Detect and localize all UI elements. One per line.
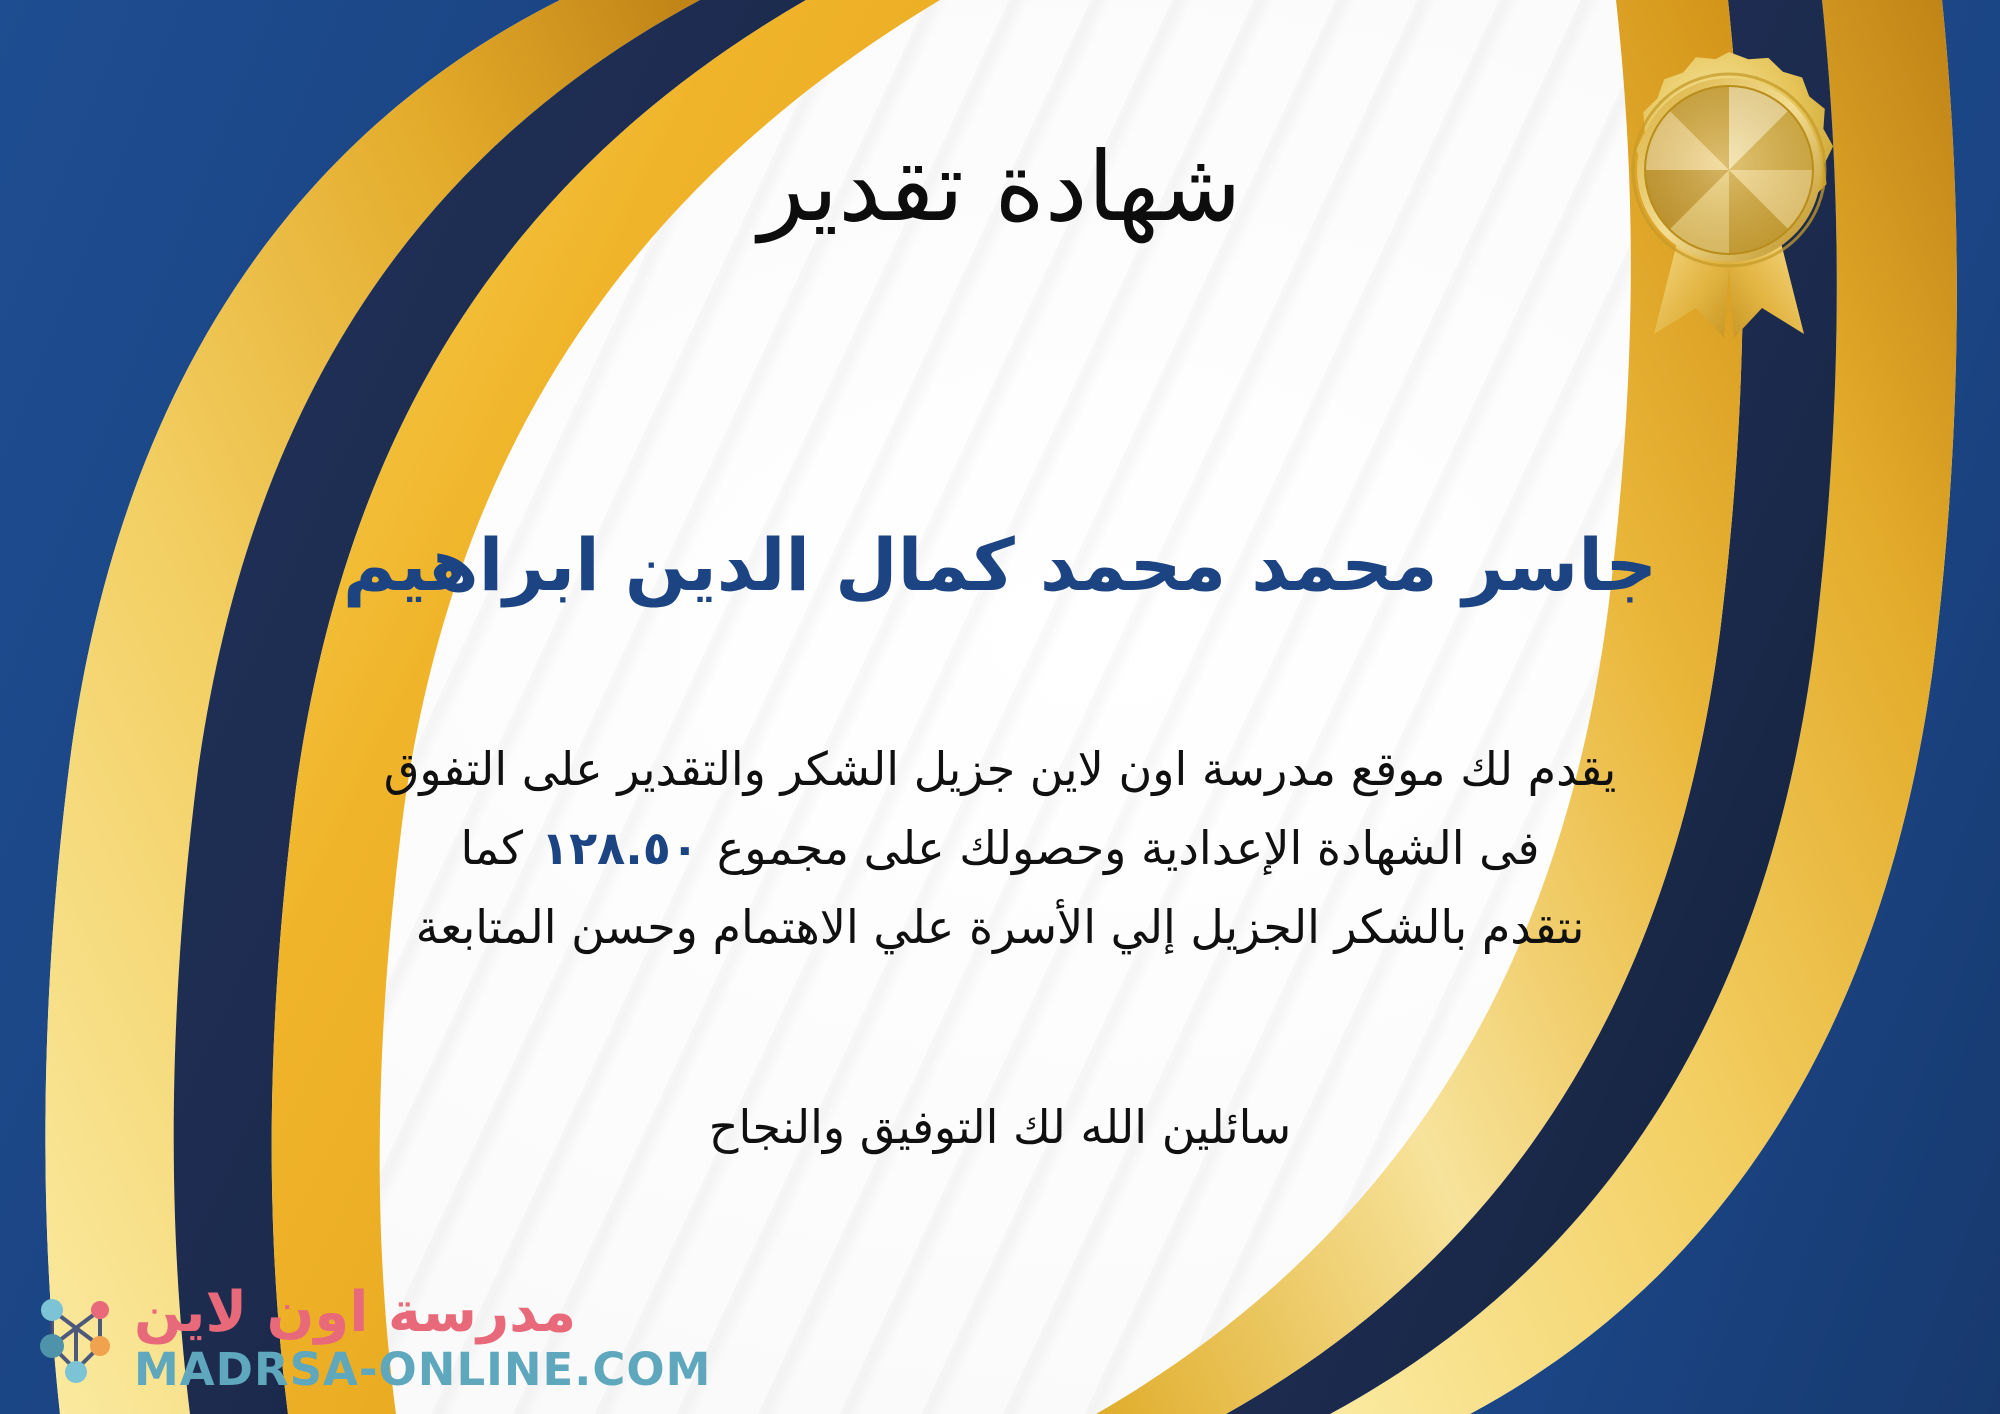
brand-logo[interactable]: مدرسة اون لاين MADRSA-ONLINE.COM (30, 1284, 711, 1392)
certificate-body: يقدم لك موقع مدرسة اون لاين جزيل الشكر و… (120, 730, 1880, 967)
total-score-value: ١٢٨.٥٠ (523, 821, 717, 875)
body-line-1: يقدم لك موقع مدرسة اون لاين جزيل الشكر و… (120, 730, 1880, 809)
body-line-2-prefix: فى الشهادة الإعدادية وحصولك على مجموع (717, 821, 1540, 875)
brand-arabic-name: مدرسة اون لاين (134, 1285, 576, 1341)
body-line-3: نتقدم بالشكر الجزيل إلي الأسرة علي الاهت… (120, 888, 1880, 967)
brand-website: MADRSA-ONLINE.COM (134, 1347, 711, 1392)
certificate-content: شهادة تقدير جاسر محمد محمد كمال الدين اب… (0, 0, 2000, 1414)
network-nodes-icon (30, 1284, 122, 1392)
closing-wish: سائلين الله لك التوفيق والنجاح (0, 1100, 2000, 1154)
page-title: شهادة تقدير (0, 132, 2000, 242)
brand-text: مدرسة اون لاين MADRSA-ONLINE.COM (134, 1285, 711, 1392)
body-line-2: فى الشهادة الإعدادية وحصولك على مجموع١٢٨… (120, 809, 1880, 888)
certificate-canvas: شهادة تقدير جاسر محمد محمد كمال الدين اب… (0, 0, 2000, 1414)
recipient-name: جاسر محمد محمد كمال الدين ابراهيم (0, 520, 2000, 610)
body-line-2-suffix: كما (460, 821, 523, 875)
